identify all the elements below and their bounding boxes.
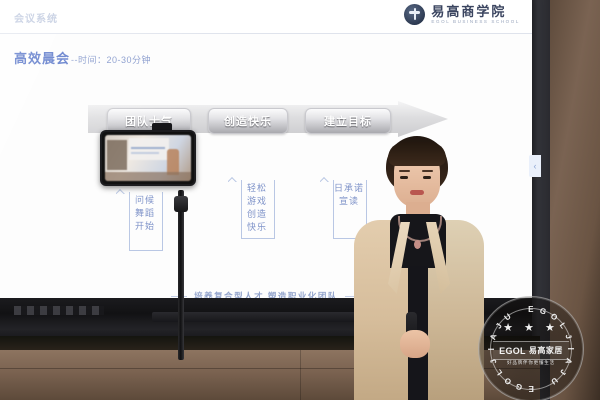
watermark-seal: EGOLJIAJU EGOLJIAJU ★ ★ ★ EGOL 易高家居 好品牌伴… <box>478 296 584 400</box>
seal-stars: ★ ★ ★ <box>479 323 583 334</box>
tripod-pole <box>178 190 184 360</box>
callout-arrow-2: 轻松游戏创造快乐 <box>228 160 286 238</box>
phone-screen-base <box>105 172 191 181</box>
cabinet-seam-vertical <box>300 350 301 400</box>
brand-name-en: EGOL BUSINESS SCHOOL <box>431 20 520 25</box>
seal-ring-char: O <box>502 375 513 386</box>
presenter-eye-left <box>400 176 408 179</box>
bezel-ports <box>14 306 104 315</box>
slide-title-duration: --时间：20-30分钟 <box>71 53 151 66</box>
seal-brand-cn: 易高家居 <box>529 345 563 356</box>
seal-tagline: 好品牌伴你更懂生活 <box>479 360 583 366</box>
step-chip-3: 建立目标 <box>305 108 391 134</box>
app-system-label: 会议系统 <box>14 10 58 25</box>
phone-screen-line-2 <box>131 152 159 154</box>
presenter-eye-right <box>423 176 431 179</box>
screenshot-stage: 会议系统 易高商学院 EGOL BUSINESS SCHOOL 高效晨会 --时… <box>0 0 600 400</box>
seal-ring-char: U <box>503 312 513 323</box>
brand-name-cn: 易高商学院 <box>431 5 520 18</box>
presenter-brow-right <box>422 170 433 172</box>
seal-center-block: EGOL 易高家居 <box>493 341 569 360</box>
smartphone-recording <box>100 130 196 186</box>
school-emblem-icon <box>404 4 425 25</box>
seal-ring-char: G <box>514 381 523 392</box>
presenter-pendant <box>414 240 421 249</box>
brand-lockup: 易高商学院 EGOL BUSINESS SCHOOL <box>404 4 520 25</box>
seal-ring-char: E <box>528 384 534 393</box>
seal-brand-en: EGOL <box>499 346 526 356</box>
seal-ring-char: E <box>528 305 534 314</box>
app-header-bar: 会议系统 易高商学院 EGOL BUSINESS SCHOOL <box>0 0 532 34</box>
presenter-hair-front <box>388 142 446 166</box>
step-chip-2: 创造快乐 <box>208 108 288 134</box>
seal-ring-char: J <box>558 368 568 377</box>
phone-screen-block-a <box>107 140 127 170</box>
seal-ring-char: G <box>539 306 548 317</box>
slide-title: 高效晨会 --时间：20-30分钟 <box>14 48 151 67</box>
brand-text: 易高商学院 EGOL BUSINESS SCHOOL <box>431 5 520 25</box>
presenter-brow-left <box>399 170 410 172</box>
slide-title-main: 高效晨会 <box>14 48 70 67</box>
tripod-mount-knob <box>174 196 188 212</box>
presenter <box>330 136 490 400</box>
callout-label-1: 问候舞蹈开始 <box>116 194 174 233</box>
header-divider <box>0 33 532 34</box>
seal-ring-char: J <box>564 333 574 340</box>
phone-screen-line-1 <box>131 147 165 149</box>
presenter-lips <box>410 190 424 195</box>
prev-slide-chevron-icon[interactable]: ‹ <box>529 155 541 177</box>
seal-ring-char: O <box>549 311 560 322</box>
seal-ring-char: L <box>494 367 504 377</box>
seal-ring-char: U <box>549 375 559 386</box>
phone-screen <box>105 135 191 181</box>
callout-label-2: 轻松游戏创造快乐 <box>228 182 286 234</box>
arrow-head-icon <box>228 160 286 182</box>
phone-screen-block-b <box>129 138 169 160</box>
presenter-hands <box>400 330 430 358</box>
